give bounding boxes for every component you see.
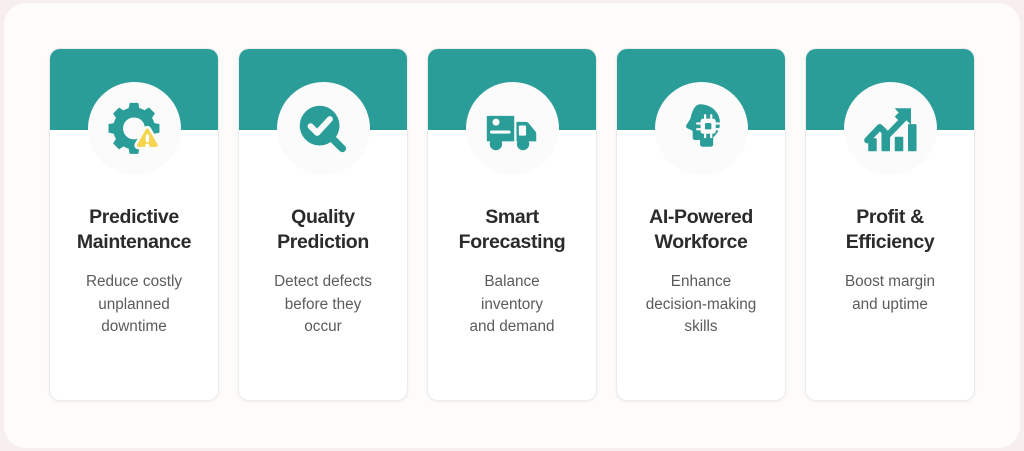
- card-title: Predictive Maintenance: [71, 205, 197, 254]
- card-title: Profit & Efficiency: [840, 205, 941, 254]
- feature-card-smart-forecasting[interactable]: Smart Forecasting Balance inventory and …: [427, 48, 597, 401]
- growth-chart-arrow-icon: [844, 82, 937, 175]
- card-description: Reduce costly unplanned downtime: [76, 271, 192, 338]
- card-title: AI-Powered Workforce: [643, 205, 759, 254]
- magnifier-check-icon: [277, 82, 370, 175]
- delivery-truck-icon: [466, 82, 559, 175]
- feature-card-profit-efficiency[interactable]: Profit & Efficiency Boost margin and upt…: [805, 48, 975, 401]
- card-title: Quality Prediction: [271, 205, 375, 254]
- head-chip-icon: [655, 82, 748, 175]
- card-description: Enhance decision-making skills: [636, 271, 767, 338]
- gear-warning-icon: [88, 82, 181, 175]
- card-description: Balance inventory and demand: [459, 271, 564, 338]
- feature-cards-panel: Predictive Maintenance Reduce costly unp…: [4, 3, 1020, 448]
- card-description: Boost margin and uptime: [835, 271, 945, 316]
- feature-cards-row: Predictive Maintenance Reduce costly unp…: [4, 3, 1020, 448]
- card-description: Detect defects before they occur: [264, 271, 382, 338]
- feature-card-quality-prediction[interactable]: Quality Prediction Detect defects before…: [238, 48, 408, 401]
- feature-card-predictive-maintenance[interactable]: Predictive Maintenance Reduce costly unp…: [49, 48, 219, 401]
- feature-card-ai-powered-workforce[interactable]: AI-Powered Workforce Enhance decision-ma…: [616, 48, 786, 401]
- card-title: Smart Forecasting: [453, 205, 572, 254]
